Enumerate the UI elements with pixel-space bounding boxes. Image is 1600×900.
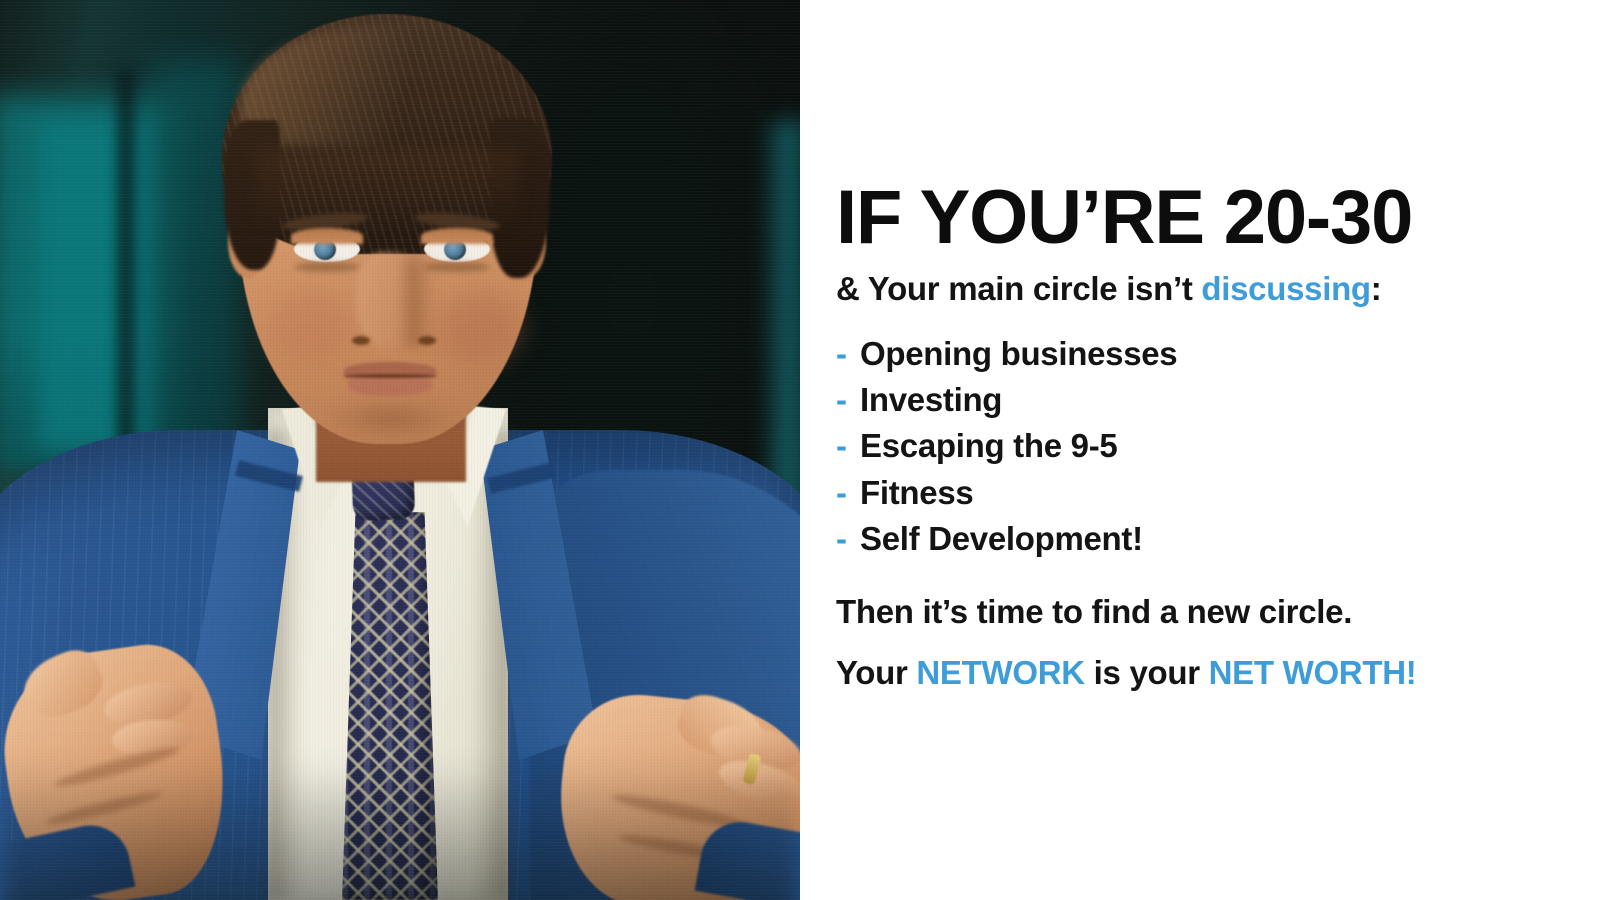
bullet-list: -Opening businesses -Investing -Escaping… [836, 331, 1574, 562]
list-item: -Investing [836, 377, 1574, 423]
bullet-label: Opening businesses [860, 335, 1177, 372]
list-item: -Opening businesses [836, 331, 1574, 377]
subheadline: & Your main circle isn’t discussing: [836, 270, 1574, 309]
cta-part2: is your [1085, 654, 1209, 691]
call-to-action-line: Your NETWORK is your NET WORTH! [836, 653, 1574, 693]
eyelid-left [291, 228, 363, 244]
cheek-left [268, 290, 354, 364]
subheadline-accent: discussing [1201, 270, 1370, 307]
undereye-left [294, 262, 360, 272]
cta-accent-network: NETWORK [916, 654, 1084, 691]
cta-accent-net-worth: NET WORTH! [1209, 654, 1417, 691]
bullet-dash-icon: - [836, 423, 860, 469]
list-item: -Escaping the 9-5 [836, 423, 1574, 469]
cheek-right [438, 290, 524, 364]
bullet-dash-icon: - [836, 470, 860, 516]
photo-panel [0, 0, 800, 900]
bullet-label: Escaping the 9-5 [860, 427, 1117, 464]
text-panel: IF YOU’RE 20-30 & Your main circle isn’t… [800, 0, 1600, 900]
photo-bottom-vignette [0, 760, 800, 900]
bullet-dash-icon: - [836, 377, 860, 423]
bullet-label: Fitness [860, 474, 973, 511]
list-item: -Self Development! [836, 516, 1574, 562]
bullet-label: Self Development! [860, 520, 1143, 557]
bullet-dash-icon: - [836, 516, 860, 562]
headline: IF YOU’RE 20-30 [836, 180, 1574, 256]
subheadline-before: & Your main circle isn’t [836, 270, 1201, 307]
bullet-dash-icon: - [836, 331, 860, 377]
eyelid-right [421, 228, 493, 244]
cta-part1: Your [836, 654, 916, 691]
nostril-left [352, 336, 370, 345]
bullet-label: Investing [860, 381, 1002, 418]
chin-shading [326, 398, 456, 438]
nostril-right [418, 336, 436, 345]
meme-image: IF YOU’RE 20-30 & Your main circle isn’t… [0, 0, 1600, 900]
text-block: IF YOU’RE 20-30 & Your main circle isn’t… [836, 180, 1574, 693]
closing-line: Then it’s time to find a new circle. [836, 592, 1574, 632]
mouth-line [344, 374, 436, 378]
subheadline-after: : [1371, 270, 1382, 307]
nose-shadow [406, 256, 436, 348]
list-item: -Fitness [836, 470, 1574, 516]
lower-lip [348, 377, 432, 396]
